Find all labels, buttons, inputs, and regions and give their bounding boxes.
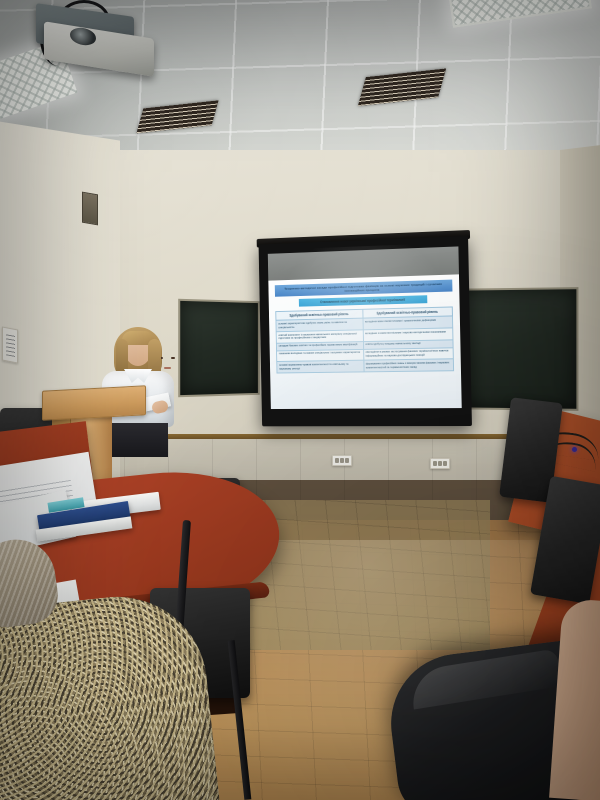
presenter-mouth bbox=[164, 367, 171, 369]
wall-vent-icon bbox=[82, 192, 98, 226]
power-outlet-left[interactable] bbox=[332, 455, 352, 466]
table-cell: формування професійних знань з використа… bbox=[363, 359, 453, 372]
slide-table: Здобуваний освітньо-правовий рівень Здоб… bbox=[275, 306, 454, 373]
slide-subtitle: Становлення нової української професійно… bbox=[299, 295, 427, 306]
screen-frame: Теоретико-методичні засади професійної п… bbox=[259, 236, 472, 426]
ceiling-projector bbox=[30, 6, 150, 68]
projection-screen: Теоретико-методичні засади професійної п… bbox=[259, 236, 472, 426]
wall-notice-paper bbox=[2, 326, 18, 363]
table-row: основні нормативно-правові компетентност… bbox=[277, 359, 454, 373]
chalkboard-left bbox=[178, 299, 260, 398]
table-cell: основні нормативно-правові компетентност… bbox=[277, 360, 364, 372]
classroom-photo: Теоретико-методичні засади професійної п… bbox=[0, 0, 600, 800]
cable-connector-led bbox=[572, 447, 577, 452]
lectern-top bbox=[42, 385, 146, 420]
slide-title: Теоретико-методичні засади професійної п… bbox=[275, 280, 453, 297]
projected-slide: Теоретико-методичні засади професійної п… bbox=[268, 274, 461, 409]
floor-tiled-area bbox=[250, 500, 490, 650]
presenter-eye-right bbox=[171, 357, 175, 359]
power-outlet-right[interactable] bbox=[430, 458, 450, 469]
audience-member bbox=[0, 540, 220, 800]
